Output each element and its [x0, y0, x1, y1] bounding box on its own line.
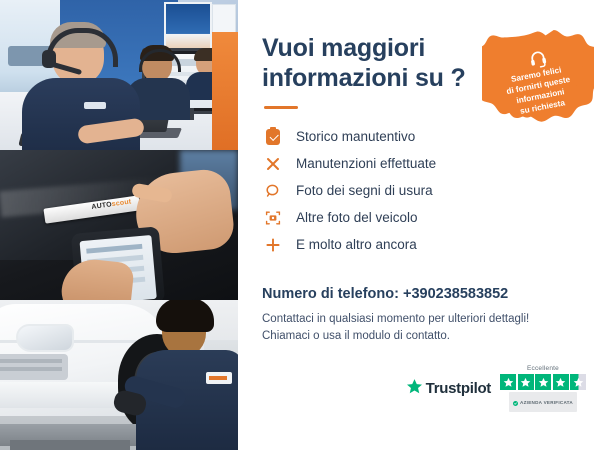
mechanic-wheel-inspection-photo: [0, 300, 238, 450]
crossed-tools-icon: [262, 156, 284, 172]
verified-label: AZIENDA VERIFICATA: [520, 400, 573, 405]
photo-frame-icon: [262, 210, 284, 226]
phone-number[interactable]: +390238583852: [403, 286, 508, 302]
verified-badge: AZIENDA VERIFICATA: [509, 392, 577, 412]
vehicle-lift-base: [10, 440, 130, 450]
star-icon: [553, 374, 569, 390]
star-icon: [406, 378, 423, 400]
phone-block: Numero di telefono: +390238583852 Contat…: [262, 286, 578, 346]
promo-banner: AUTOscout: [0, 0, 600, 450]
list-item: E molto altro ancora: [262, 231, 578, 258]
star-icon: [500, 374, 516, 390]
orange-partition: [212, 32, 238, 150]
call-center-agents-photo: [0, 0, 238, 150]
trustpilot-rating: Eccellente: [500, 365, 586, 412]
list-item: Foto dei segni di usura: [262, 177, 578, 204]
car-headlight: [16, 324, 74, 352]
mechanic: [132, 300, 238, 450]
phone-line: Numero di telefono: +390238583852: [262, 286, 578, 302]
star-icon-half: [570, 374, 586, 390]
content-panel: Vuoi maggiori informazioni su ? Storico …: [238, 0, 600, 450]
feature-label: Altre foto del veicolo: [296, 210, 418, 225]
contact-subtext-line-2: Chiamaci o usa il modulo di contatto.: [262, 328, 578, 345]
title-divider: [264, 106, 298, 109]
list-item: Manutenzioni effettuate: [262, 150, 578, 177]
callout-badge: Saremo felici di fornirti queste informa…: [482, 28, 594, 140]
feature-list: Storico manutentivo Manutenzioni effettu…: [262, 123, 578, 258]
headline-line-2: informazioni su ?: [262, 64, 466, 92]
rating-caption: Eccellente: [527, 365, 559, 372]
star-icon: [535, 374, 551, 390]
contact-subtext-line-1: Contattaci in qualsiasi momento per ulte…: [262, 311, 578, 328]
trustpilot-wordmark: Trustpilot: [426, 380, 491, 397]
plus-icon: [262, 237, 284, 253]
hand-holding-tablet: [59, 257, 135, 300]
feature-label: Storico manutentivo: [296, 129, 415, 144]
star-icon: [518, 374, 534, 390]
list-item: Altre foto del veicolo: [262, 204, 578, 231]
clipboard-check-icon: [262, 129, 284, 145]
trustpilot-logo: Trustpilot: [406, 378, 491, 400]
car-grille: [0, 354, 68, 380]
paint-gauge-inspection-photo: AUTOscout: [0, 150, 238, 300]
headline-line-1: Vuoi maggiori: [262, 34, 425, 62]
trustpilot-widget[interactable]: Trustpilot Eccellente: [406, 365, 586, 412]
feature-label: Manutenzioni effettuate: [296, 156, 436, 171]
rating-stars: [500, 374, 586, 390]
headset-icon: [527, 47, 549, 69]
foreground-agent-with-headset: [22, 26, 140, 150]
check-badge-icon: [513, 393, 518, 411]
starburst-shape: [482, 28, 594, 140]
magnifier-icon: [262, 183, 284, 199]
feature-label: Foto dei segni di usura: [296, 183, 433, 198]
phone-label: Numero di telefono:: [262, 286, 399, 302]
page-title: Vuoi maggiori informazioni su ?: [262, 34, 472, 93]
photo-column: AUTOscout: [0, 0, 238, 450]
feature-label: E molto altro ancora: [296, 237, 417, 252]
